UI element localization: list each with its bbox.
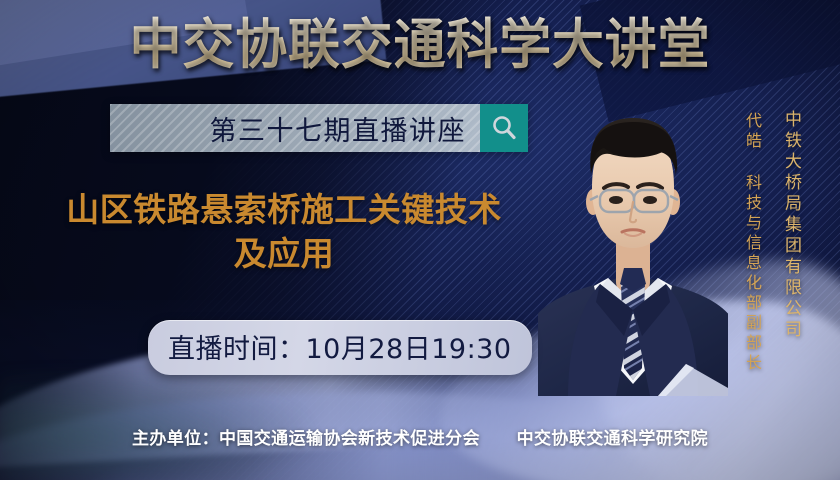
lecture-title-line-2: 及应用 — [24, 232, 544, 276]
episode-banner-plate: 第三十七期直播讲座 — [110, 104, 480, 152]
episode-label: 第三十七期直播讲座 — [210, 109, 467, 148]
organizer-secondary: 中交协联交通科学研究院 — [517, 429, 708, 449]
organizer-footer: 主办单位：中国交通运输协会新技术促进分会 中交协联交通科学研究院 — [0, 424, 840, 449]
lecture-title-line-1: 山区铁路悬索桥施工关键技术 — [24, 188, 544, 232]
page-title: 中交协联交通科学大讲堂 — [17, 14, 823, 76]
speaker-organization: 中铁大桥局集团有限公司 — [779, 110, 804, 341]
organizer-primary: 主办单位：中国交通运输协会新技术促进分会 — [132, 429, 480, 449]
speaker-role: 科技与信息化部副部长 — [740, 174, 764, 374]
episode-banner: 第三十七期直播讲座 — [110, 104, 528, 152]
lecture-title: 山区铁路悬索桥施工关键技术 及应用 — [24, 188, 544, 276]
search-button[interactable] — [480, 104, 528, 152]
speaker-name: 代皓 — [740, 112, 764, 152]
search-icon — [489, 113, 519, 143]
broadcast-time-badge: 直播时间：10月28日19:30 — [148, 320, 532, 375]
speaker-portrait — [538, 96, 728, 396]
livestream-poster: 中交协联交通科学大讲堂 中交协联交通科学大讲堂 第三十七期直播讲座 山区铁路悬索… — [0, 0, 840, 480]
